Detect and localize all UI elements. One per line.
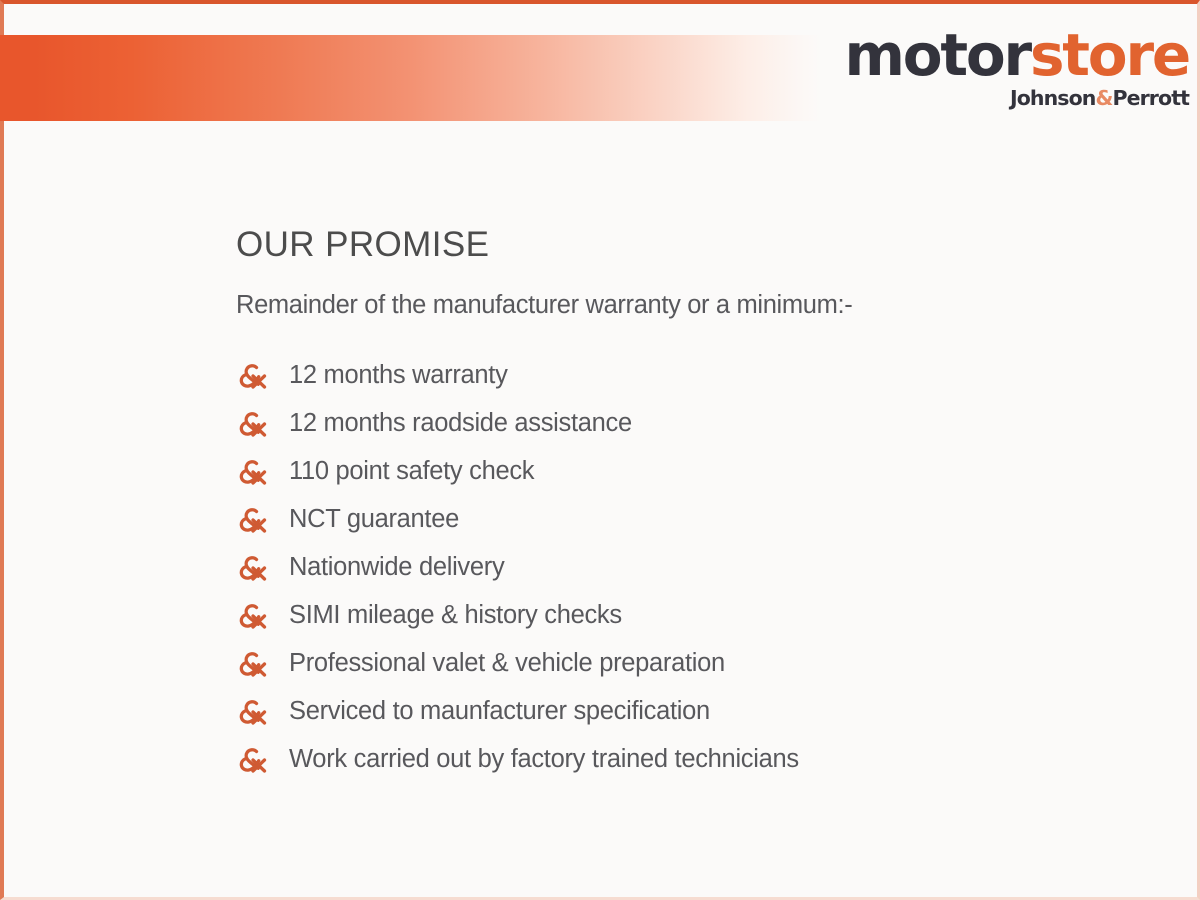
ampersand-bullet-icon (236, 360, 270, 394)
list-item: Nationwide delivery (236, 544, 1136, 592)
list-item: NCT guarantee (236, 496, 1136, 544)
page-subtitle: Remainder of the manufacturer warranty o… (236, 291, 1136, 320)
list-item: Work carried out by factory trained tech… (236, 736, 1136, 784)
list-item-label: NCT guarantee (289, 507, 459, 533)
list-item: 12 months raodside assistance (236, 400, 1136, 448)
ampersand-bullet-icon (236, 600, 270, 634)
logo-word-motor: motor (844, 21, 1029, 89)
list-item-label: Work carried out by factory trained tech… (289, 747, 799, 773)
ampersand-bullet-icon (236, 696, 270, 730)
header-gradient-bar (0, 35, 822, 121)
ampersand-bullet-icon (236, 648, 270, 682)
motorstore-logo: motorstore Johnson&Perrott (844, 26, 1189, 109)
list-item-label: Nationwide delivery (289, 555, 504, 581)
list-item-label: Professional valet & vehicle preparation (289, 651, 725, 677)
list-item-label: Serviced to maunfacturer specification (289, 699, 710, 725)
ampersand-bullet-icon (236, 552, 270, 586)
logo-sub-perrott: Perrott (1112, 86, 1189, 110)
logo-sub-ampersand-icon: & (1095, 86, 1112, 110)
list-item-label: SIMI mileage & history checks (289, 603, 622, 629)
ampersand-bullet-icon (236, 504, 270, 538)
slide-header: motorstore Johnson&Perrott (4, 4, 1197, 130)
ampersand-bullet-icon (236, 744, 270, 778)
list-item: Serviced to maunfacturer specification (236, 688, 1136, 736)
logo-subtitle: Johnson&Perrott (844, 88, 1189, 109)
slide-content: OUR PROMISE Remainder of the manufacture… (236, 226, 1136, 784)
list-item: 110 point safety check (236, 448, 1136, 496)
list-item: 12 months warranty (236, 352, 1136, 400)
promise-list: 12 months warranty 12 months raodside as… (236, 352, 1136, 784)
ampersand-bullet-icon (236, 408, 270, 442)
ampersand-bullet-icon (236, 456, 270, 490)
list-item-label: 110 point safety check (289, 459, 534, 485)
page-title: OUR PROMISE (236, 226, 1136, 265)
list-item-label: 12 months raodside assistance (289, 411, 632, 437)
logo-word-store: store (1030, 21, 1189, 89)
list-item-label: 12 months warranty (289, 363, 508, 389)
list-item: Professional valet & vehicle preparation (236, 640, 1136, 688)
logo-wordmark: motorstore (844, 26, 1189, 84)
promise-slide: motorstore Johnson&Perrott OUR PROMISE R… (0, 0, 1200, 900)
list-item: SIMI mileage & history checks (236, 592, 1136, 640)
logo-sub-johnson: Johnson (1010, 86, 1095, 110)
